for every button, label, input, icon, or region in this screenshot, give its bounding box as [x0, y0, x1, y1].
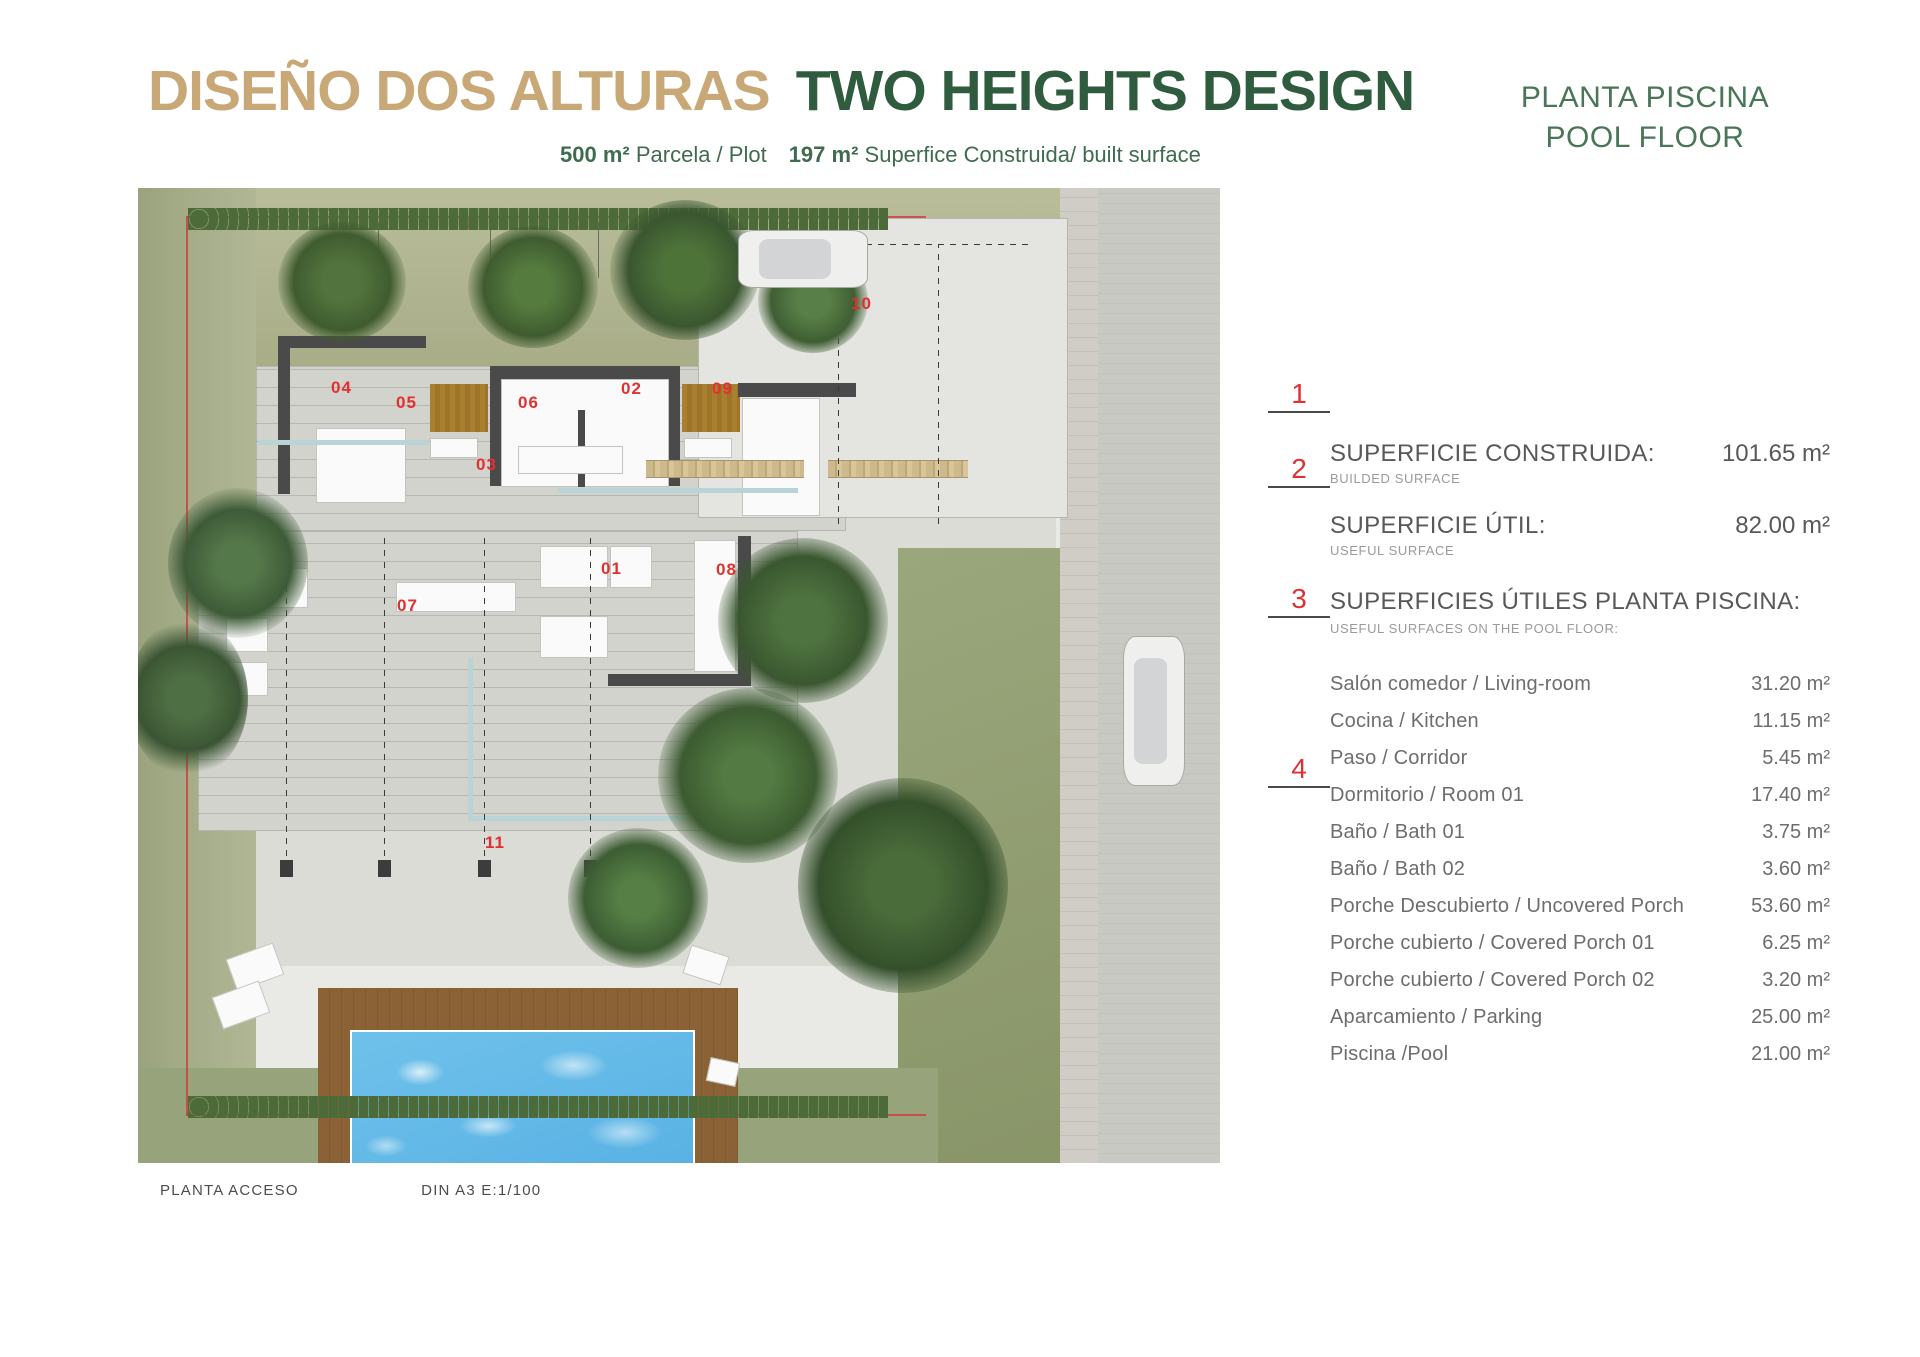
section-marker-4: 4 — [1268, 755, 1330, 788]
bath-01-floor — [430, 384, 488, 432]
area-row-covered-porch-02: Porche cubierto / Covered Porch 02 3.20 … — [1330, 962, 1830, 999]
area-label-covered-porch-01: Porche cubierto / Covered Porch 01 — [1330, 932, 1655, 955]
room-marker-10: 10 — [851, 294, 872, 314]
room-marker-09: 09 — [712, 379, 733, 399]
hedge-bottom — [188, 1096, 888, 1118]
car-street — [1123, 636, 1185, 786]
drawing-footer: PLANTA ACCESO DIN A3 E:1/100 — [160, 1182, 760, 1200]
floor-title-english: POOL FLOOR — [1495, 118, 1795, 158]
area-value-covered-porch-02: 3.20 m² — [1762, 969, 1830, 992]
area-list: Salón comedor / Living-room 31.20 m² Coc… — [1330, 666, 1830, 1073]
bath-02-fixture — [684, 438, 732, 458]
glazing-living — [468, 658, 473, 818]
room-marker-11: 11 — [485, 833, 505, 853]
section-marker-2-bar — [1268, 486, 1330, 488]
bath-01-fixture — [430, 438, 478, 458]
area-value-kitchen: 11.15 m² — [1753, 710, 1830, 733]
area-value-pool: 21.00 m² — [1751, 1043, 1830, 1066]
area-label-room-01: Dormitorio / Room 01 — [1330, 784, 1524, 807]
car-parked-cabin — [759, 239, 831, 279]
room-marker-04: 04 — [331, 378, 352, 398]
title-english: TWO HEIGHTS DESIGN — [796, 58, 1415, 124]
sofa-living-lower — [540, 616, 608, 658]
pergola-column-3 — [478, 860, 491, 877]
title-spanish: DISEÑO DOS ALTURAS — [148, 58, 770, 124]
area-row-bath-02: Baño / Bath 02 3.60 m² — [1330, 851, 1830, 888]
section-marker-1-label: 1 — [1268, 380, 1330, 408]
shade-tree-8 — [798, 778, 1008, 993]
summary-useful-surface-label: SUPERFICIE ÚTIL: — [1330, 512, 1546, 540]
section-marker-4-bar — [1268, 786, 1330, 788]
area-label-living-room: Salón comedor / Living-room — [1330, 673, 1591, 696]
stair-core-wall-top — [490, 366, 680, 379]
area-row-living-room: Salón comedor / Living-room 31.20 m² — [1330, 666, 1830, 703]
pergola-column-2 — [378, 860, 391, 877]
room-marker-05: 05 — [396, 393, 417, 413]
area-row-uncovered-porch: Porche Descubierto / Uncovered Porch 53.… — [1330, 888, 1830, 925]
summary-useful-surface-value: 82.00 m² — [1735, 512, 1830, 540]
pergola-column-1 — [280, 860, 293, 877]
room-marker-06: 06 — [518, 393, 539, 413]
summary-useful-surface: SUPERFICIE ÚTIL: 82.00 m² USEFUL SURFACE — [1330, 512, 1830, 558]
area-value-uncovered-porch: 53.60 m² — [1751, 895, 1830, 918]
grid-line-c — [598, 222, 599, 278]
area-value-covered-porch-01: 6.25 m² — [1762, 932, 1830, 955]
area-label-bath-02: Baño / Bath 02 — [1330, 858, 1465, 881]
area-row-bath-01: Baño / Bath 01 3.75 m² — [1330, 814, 1830, 851]
built-area-label: Superfice Construida/ built surface — [865, 142, 1201, 167]
stone-strip-left — [646, 460, 804, 478]
surface-info-panel: SUPERFICIE CONSTRUIDA: 101.65 m² BUILDED… — [1330, 440, 1830, 1073]
section-marker-1-bar — [1268, 411, 1330, 413]
room-marker-07: 07 — [397, 596, 418, 616]
summary-built-surface-sublabel: BUILDED SURFACE — [1330, 471, 1830, 486]
summary-useful-surface-sublabel: USEFUL SURFACE — [1330, 543, 1830, 558]
floor-title-spanish: PLANTA PISCINA — [1495, 78, 1795, 118]
area-value-corridor: 5.45 m² — [1762, 747, 1830, 770]
area-value-room-01: 17.40 m² — [1751, 784, 1830, 807]
plot-area-label: Parcela / Plot — [636, 142, 767, 167]
car-parked — [738, 230, 868, 288]
footer-plan-name: PLANTA ACCESO — [160, 1182, 299, 1199]
plot-area-value: 500 m² — [560, 142, 630, 167]
sofa-living — [540, 546, 608, 588]
area-row-room-01: Dormitorio / Room 01 17.40 m² — [1330, 777, 1830, 814]
summary-useful-surface-row: SUPERFICIE ÚTIL: 82.00 m² — [1330, 512, 1830, 540]
area-list-header: SUPERFICIES ÚTILES PLANTA PISCINA: USEFU… — [1330, 588, 1830, 636]
area-list-header-spanish: SUPERFICIES ÚTILES PLANTA PISCINA: — [1330, 588, 1830, 616]
area-value-parking: 25.00 m² — [1751, 1006, 1830, 1029]
main-title: DISEÑO DOS ALTURASTWO HEIGHTS DESIGN — [148, 58, 1414, 124]
area-label-covered-porch-02: Porche cubierto / Covered Porch 02 — [1330, 969, 1655, 992]
built-area-figure: 197 m² Superfice Construida/ built surfa… — [789, 142, 1201, 168]
area-label-parking: Aparcamiento / Parking — [1330, 1006, 1542, 1029]
area-row-parking: Aparcamiento / Parking 25.00 m² — [1330, 999, 1830, 1036]
palm-tree-4 — [168, 488, 308, 638]
summary-built-surface: SUPERFICIE CONSTRUIDA: 101.65 m² BUILDED… — [1330, 440, 1830, 486]
glazing-kitchen — [558, 488, 798, 493]
area-label-uncovered-porch: Porche Descubierto / Uncovered Porch — [1330, 895, 1684, 918]
bedroom-wall-left — [278, 336, 290, 494]
document-header: DISEÑO DOS ALTURASTWO HEIGHTS DESIGN 500… — [0, 0, 1920, 180]
floor-title: PLANTA PISCINA POOL FLOOR — [1495, 78, 1795, 157]
pergola-axis-2 — [384, 538, 385, 868]
area-row-corridor: Paso / Corridor 5.45 m² — [1330, 740, 1830, 777]
area-row-kitchen: Cocina / Kitchen 11.15 m² — [1330, 703, 1830, 740]
area-value-living-room: 31.20 m² — [1751, 673, 1830, 696]
stone-strip-right — [828, 460, 968, 478]
area-label-corridor: Paso / Corridor — [1330, 747, 1468, 770]
built-area-value: 197 m² — [789, 142, 859, 167]
pergola-axis-4 — [590, 538, 591, 868]
area-label-kitchen: Cocina / Kitchen — [1330, 710, 1479, 733]
room-marker-01: 01 — [601, 559, 622, 579]
kitchen-counter — [742, 398, 820, 516]
pergola-axis-3 — [484, 538, 485, 868]
area-value-bath-01: 3.75 m² — [1762, 821, 1830, 844]
section-marker-1: 1 — [1268, 380, 1330, 413]
palm-tree-1 — [278, 222, 406, 342]
palm-tree-6 — [718, 538, 888, 703]
section-marker-4-label: 4 — [1268, 755, 1330, 783]
summary-built-surface-label: SUPERFICIE CONSTRUIDA: — [1330, 440, 1655, 468]
summary-built-surface-value: 101.65 m² — [1722, 440, 1830, 468]
section-marker-3-bar — [1268, 616, 1330, 618]
room-marker-08: 08 — [716, 560, 737, 580]
area-label-bath-01: Baño / Bath 01 — [1330, 821, 1465, 844]
subtitle: 500 m² Parcela / Plot 197 m² Superfice C… — [560, 142, 1201, 168]
section-marker-2: 2 — [1268, 455, 1330, 488]
east-wing-wall-bottom — [608, 674, 751, 686]
parking-dash-right — [938, 244, 939, 524]
plot-area-figure: 500 m² Parcela / Plot — [560, 142, 767, 168]
footer-scale: DIN A3 E:1/100 — [421, 1182, 541, 1199]
room-marker-03: 03 — [476, 455, 497, 475]
room-marker-02: 02 — [621, 379, 642, 399]
section-marker-2-label: 2 — [1268, 455, 1330, 483]
glazing-upper — [258, 440, 428, 445]
section-marker-3: 3 — [1268, 585, 1330, 618]
area-row-covered-porch-01: Porche cubierto / Covered Porch 01 6.25 … — [1330, 925, 1830, 962]
area-value-bath-02: 3.60 m² — [1762, 858, 1830, 881]
palm-tree-2 — [468, 226, 598, 348]
area-list-header-english: USEFUL SURFACES ON THE POOL FLOOR: — [1330, 621, 1830, 636]
car-street-cabin — [1134, 658, 1168, 765]
dining-table-upper — [518, 446, 623, 474]
section-marker-3-label: 3 — [1268, 585, 1330, 613]
area-label-pool: Piscina /Pool — [1330, 1043, 1448, 1066]
area-row-pool: Piscina /Pool 21.00 m² — [1330, 1036, 1830, 1073]
summary-built-surface-row: SUPERFICIE CONSTRUIDA: 101.65 m² — [1330, 440, 1830, 468]
floor-plan-drawing: A B C D E 01 02 03 04 05 06 07 0 — [138, 188, 1220, 1163]
palm-tree-9 — [568, 828, 708, 968]
